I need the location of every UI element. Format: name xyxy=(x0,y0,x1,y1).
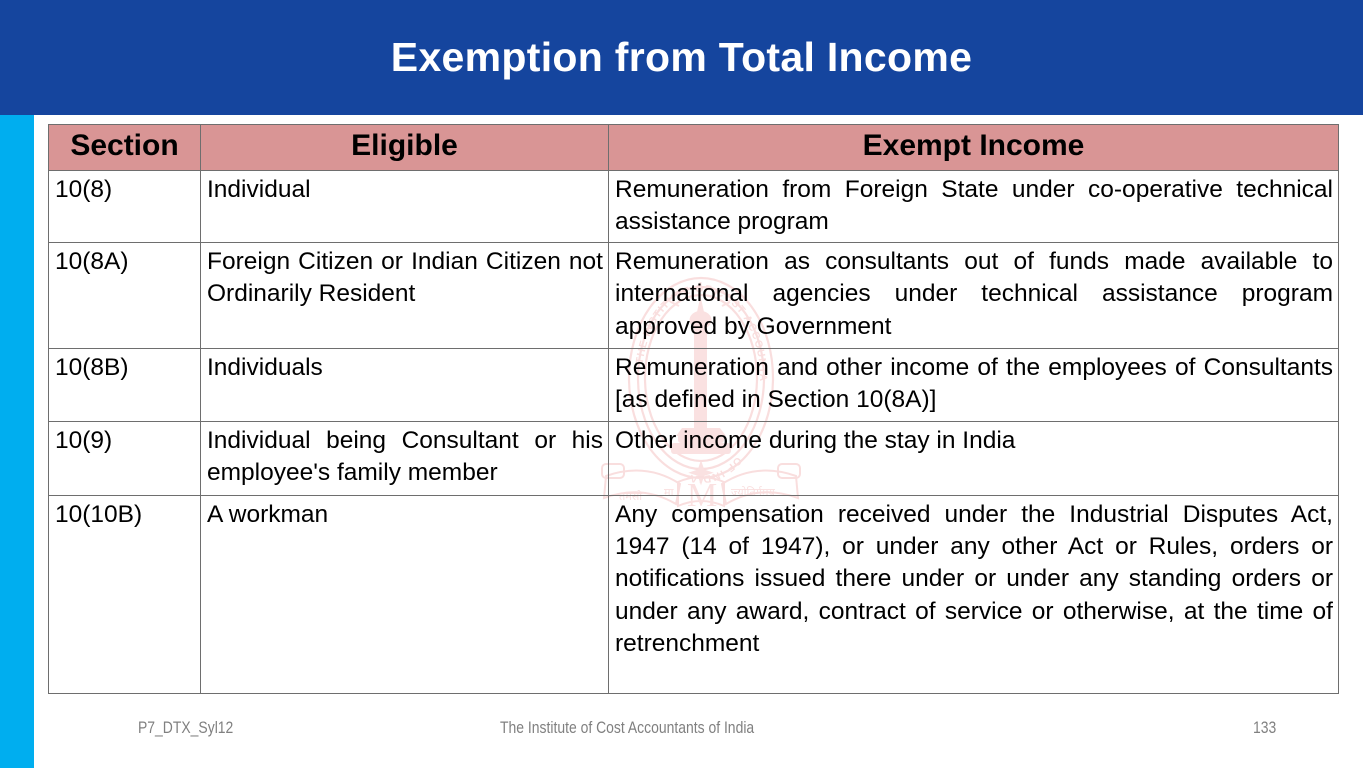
column-header-eligible: Eligible xyxy=(201,125,609,171)
cell-eligible: Foreign Citizen or Indian Citizen not Or… xyxy=(201,243,609,349)
footer-institute-name: The Institute of Cost Accountants of Ind… xyxy=(500,718,754,738)
cell-section: 10(8A) xyxy=(49,243,201,349)
cell-exempt: Remuneration as consultants out of funds… xyxy=(609,243,1339,349)
exemption-table-container: Section Eligible Exempt Income 10(8) Ind… xyxy=(48,124,1338,694)
cell-exempt: Remuneration from Foreign State under co… xyxy=(609,170,1339,243)
cell-eligible: A workman xyxy=(201,495,609,693)
table-row: 10(8) Individual Remuneration from Forei… xyxy=(49,170,1339,243)
table-row: 10(10B) A workman Any compensation recei… xyxy=(49,495,1339,693)
cell-eligible: Individuals xyxy=(201,349,609,422)
column-header-section: Section xyxy=(49,125,201,171)
table-row: 10(8B) Individuals Remuneration and othe… xyxy=(49,349,1339,422)
left-accent-strip xyxy=(0,115,34,768)
cell-section: 10(8B) xyxy=(49,349,201,422)
cell-exempt: Remuneration and other income of the emp… xyxy=(609,349,1339,422)
cell-section: 10(8) xyxy=(49,170,201,243)
table-header-row: Section Eligible Exempt Income xyxy=(49,125,1339,171)
cell-section: 10(9) xyxy=(49,421,201,495)
table-row: 10(8A) Foreign Citizen or Indian Citizen… xyxy=(49,243,1339,349)
footer-subject-code: P7_DTX_Syl12 xyxy=(138,718,233,738)
exemption-table: Section Eligible Exempt Income 10(8) Ind… xyxy=(48,124,1339,694)
slide-title-bar: Exemption from Total Income xyxy=(0,0,1363,115)
cell-eligible: Individual xyxy=(201,170,609,243)
slide-footer: P7_DTX_Syl12 The Institute of Cost Accou… xyxy=(0,714,1363,748)
table-row: 10(9) Individual being Consultant or his… xyxy=(49,421,1339,495)
footer-page-number: 133 xyxy=(1253,718,1276,738)
column-header-exempt-income: Exempt Income xyxy=(609,125,1339,171)
page-title: Exemption from Total Income xyxy=(391,34,972,81)
cell-eligible: Individual being Consultant or his emplo… xyxy=(201,421,609,495)
cell-section: 10(10B) xyxy=(49,495,201,693)
cell-exempt: Any compensation received under the Indu… xyxy=(609,495,1339,693)
cell-exempt: Other income during the stay in India xyxy=(609,421,1339,495)
